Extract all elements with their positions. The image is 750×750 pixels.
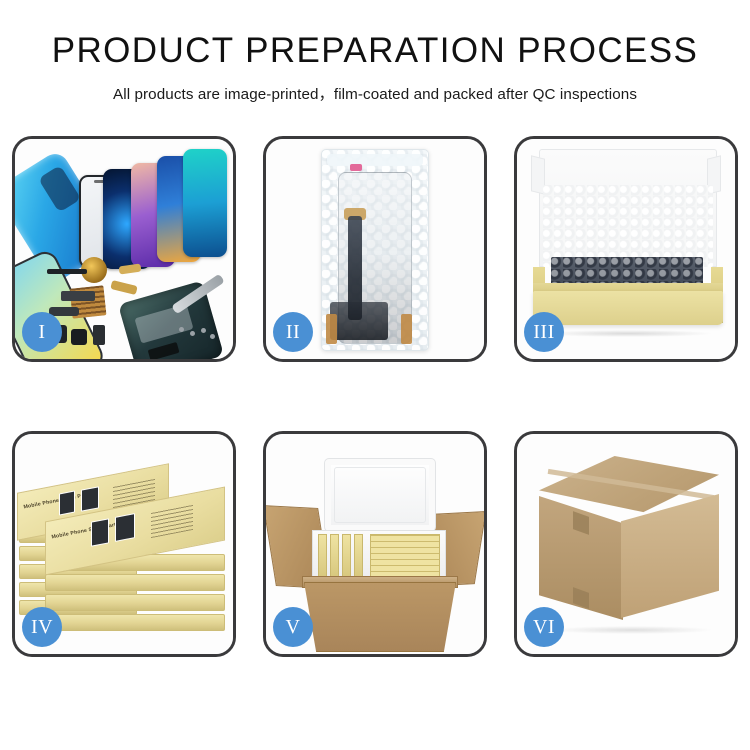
yellow-box-item	[342, 534, 351, 578]
step-badge-1: I	[22, 312, 62, 352]
foam-lid	[324, 458, 436, 532]
button-part	[93, 325, 105, 345]
yellow-box-row	[370, 534, 440, 578]
box-shadow	[545, 330, 711, 337]
gold-tab-left	[326, 314, 337, 344]
box-window-back-1	[59, 490, 75, 515]
step-badge-4: IV	[22, 607, 62, 647]
bubble-wrap-bag	[321, 149, 429, 351]
process-steps-grid: I II	[12, 136, 738, 657]
screen-lower-board	[330, 302, 388, 340]
process-step-panel-3: III	[514, 136, 738, 362]
yellow-box-item	[354, 534, 363, 578]
yellow-box-item	[318, 534, 327, 578]
page-subtitle: All products are image-printed，film-coat…	[0, 82, 750, 104]
step-badge-6: VI	[524, 607, 564, 647]
box-shadow	[553, 626, 711, 634]
phone-screen-teal	[183, 149, 227, 257]
gold-contact-part	[110, 280, 137, 295]
process-step-panel-2: II	[263, 136, 487, 362]
yellow-box-front	[533, 291, 723, 325]
preparation-process-page: PRODUCT PREPARATION PROCESS All products…	[0, 0, 750, 750]
page-title: PRODUCT PREPARATION PROCESS	[0, 32, 750, 71]
qc-sticker	[350, 164, 362, 171]
yellow-box-item	[330, 534, 339, 578]
step-badge-3: III	[524, 312, 564, 352]
page-header: PRODUCT PREPARATION PROCESS All products…	[0, 0, 750, 104]
step-badge-2: II	[273, 312, 313, 352]
box-window-front-1	[91, 518, 109, 546]
kraft-box-slab	[45, 614, 225, 631]
process-step-panel-6: VI	[514, 431, 738, 657]
white-foam-pad	[543, 185, 713, 267]
camera-module-part	[71, 329, 87, 345]
bag-top-seal	[327, 154, 423, 166]
step-badge-5: V	[273, 607, 313, 647]
process-step-panel-4: Mobile Phone Spare Parts Mobile Phone Sp…	[12, 431, 236, 657]
box-window-back-2	[81, 486, 99, 511]
gold-tab-right	[401, 314, 412, 344]
kraft-box-slab	[45, 594, 225, 611]
earpiece-mesh-part	[47, 269, 87, 274]
process-step-panel-5: V	[263, 431, 487, 657]
gold-connector-part	[119, 264, 142, 275]
carton-front	[304, 582, 456, 652]
screws-group	[179, 327, 219, 341]
shipping-box-face-right	[621, 494, 719, 618]
ribbon-cable-part	[61, 291, 95, 301]
process-step-panel-1: I	[12, 136, 236, 362]
box-window-front-2	[115, 513, 135, 542]
kraft-box-slab	[45, 574, 225, 591]
